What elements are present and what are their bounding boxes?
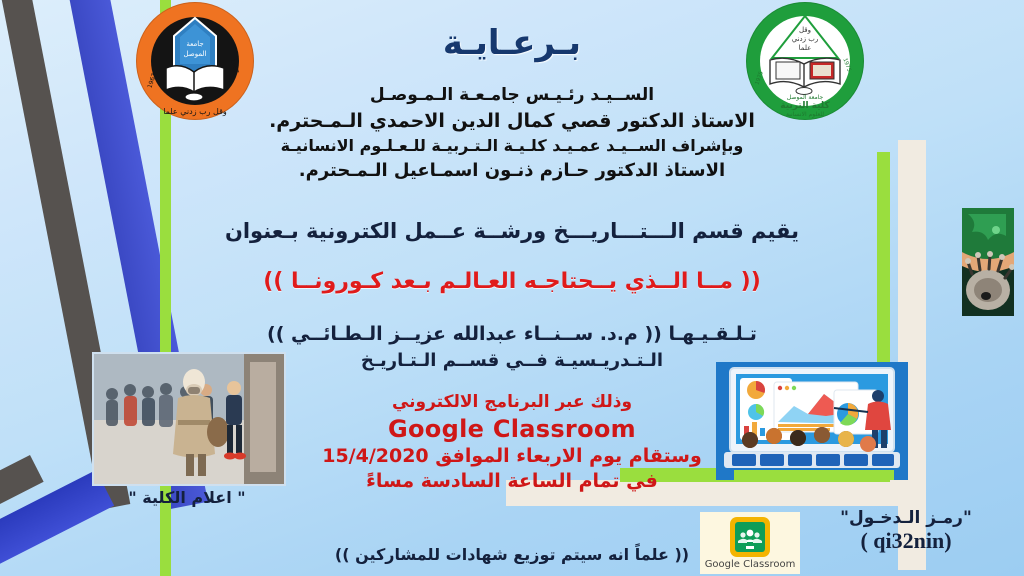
poster-canvas: جامعة الموصل 1967 1967 وقل رب زدني علما …	[0, 0, 1024, 576]
patronage-line-4: الاستاذ الدكتور حـازم ذنـون اسمـاعيل الـ…	[190, 159, 834, 182]
platform-name: Google Classroom	[250, 414, 774, 445]
platform-intro: وذلك عبر البرنامج الالكتروني	[250, 392, 774, 414]
access-code-label: "رمـز الـدخـول"	[806, 508, 1006, 528]
speaker-name: تـلـقـيـهـا (( م.د. ســنــاء عبدالله عزي…	[180, 322, 844, 346]
page-title: بـرعـايـة	[0, 22, 1024, 66]
access-code-value: ( qi32nin)	[806, 528, 1006, 554]
platform-block: وذلك عبر البرنامج الالكتروني Google Clas…	[250, 392, 774, 493]
patronage-block: الســيـد رئـيـس جامـعـة الـمـوصـل الاستا…	[190, 85, 834, 182]
google-classroom-badge[interactable]: Google Classroom	[700, 512, 800, 574]
patronage-line-1: الســيـد رئـيـس جامـعـة الـمـوصـل	[190, 85, 834, 107]
online-classroom-illustration	[716, 362, 908, 480]
google-classroom-label: Google Classroom	[705, 559, 796, 570]
masked-pedestrian-photo	[92, 352, 286, 486]
virus-globe-image	[962, 208, 1014, 316]
workshop-title: (( مــا الــذي يــحتاجـه العـالـم بـعد ك…	[150, 268, 874, 296]
event-time: في تمام الساعة السادسة مساءً	[250, 469, 774, 493]
patronage-line-2: الاستاذ الدكتور قصي كمال الدين الاحمدي ا…	[190, 109, 834, 133]
patronage-line-3: وبإشراف الســيـد عمـيـد كلـيـة الـتـربيـ…	[190, 136, 834, 156]
access-code-block: "رمـز الـدخـول" ( qi32nin)	[806, 508, 1006, 554]
department-announcement: يقيم قسم الـــتـــاريـــخ ورشــة عــمل ا…	[180, 218, 844, 245]
event-date: وستقام يوم الاربعاء الموافق 15/4/2020	[250, 444, 774, 468]
photo-caption: " اعلام الكلية "	[92, 488, 282, 507]
google-classroom-icon	[730, 517, 770, 557]
